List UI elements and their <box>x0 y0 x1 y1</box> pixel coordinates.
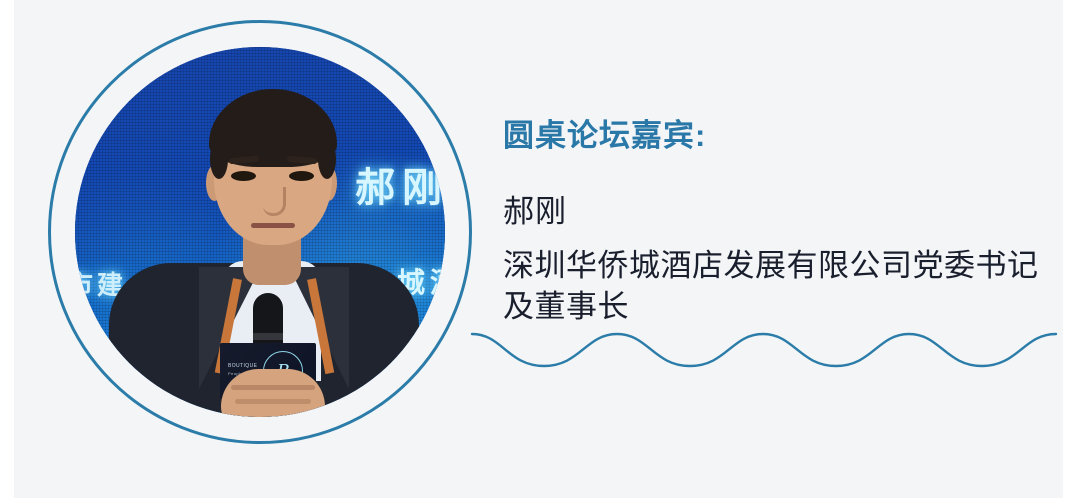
speaker-name: 郝刚 <box>503 196 567 227</box>
speaker-card: 市建 司 郝刚 城酒 限 <box>0 0 1080 498</box>
person-figure: BOUTIQUE People B <box>75 47 445 417</box>
microphone-wordmark-text: BOUTIQUE <box>228 363 257 369</box>
eye-right <box>289 171 314 181</box>
portrait-photo: 市建 司 郝刚 城酒 限 <box>75 47 445 417</box>
section-eyebrow-label: 圆桌论坛嘉宾: <box>503 120 706 151</box>
text-column: 圆桌论坛嘉宾: 郝刚 深圳华侨城酒店发展有限公司党委书记及董事长 <box>503 0 1063 498</box>
hair <box>209 89 337 167</box>
wave-divider-icon <box>462 312 1066 382</box>
eye-left <box>231 171 256 181</box>
wave-path <box>472 334 1056 366</box>
portrait-container: 市建 司 郝刚 城酒 限 <box>48 20 472 444</box>
mouth <box>251 223 295 228</box>
portrait-image: 市建 司 郝刚 城酒 限 <box>75 47 445 417</box>
nose <box>263 187 286 216</box>
hands <box>221 369 325 417</box>
